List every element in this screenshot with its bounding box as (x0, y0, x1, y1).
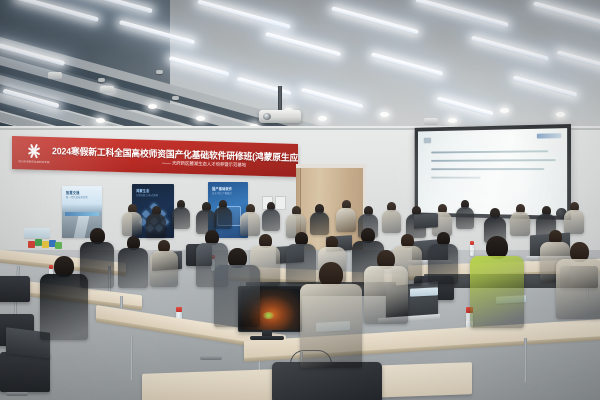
attendee-torso (262, 209, 280, 231)
poster-title: 国产基础软件 (212, 186, 232, 191)
attendee-torso (172, 207, 190, 229)
ceiling-downlight (318, 116, 327, 121)
bottle-cap (176, 307, 182, 312)
office-chair[interactable] (0, 276, 30, 302)
slide-text-line (431, 168, 544, 170)
attendee-torso (564, 210, 584, 234)
sprinkler-head (156, 70, 163, 74)
slide-text-line (431, 150, 548, 154)
ceiling-speaker (48, 72, 62, 79)
ceiling-downlight (380, 112, 389, 117)
laptop-lid[interactable] (414, 213, 438, 229)
poster-title: 鸿蒙生态 (136, 188, 150, 193)
slide-corner-logo (537, 133, 562, 138)
poster-body: 万物互联 分布式架构 (136, 194, 158, 197)
ceiling-downlight (556, 112, 565, 117)
bottle-cap (49, 265, 53, 269)
attendee-torso (40, 274, 88, 340)
light-switch-panel-right[interactable] (275, 196, 286, 210)
attendee-torso (364, 266, 408, 324)
attendee-torso (556, 259, 600, 319)
ceiling-projector (259, 110, 301, 123)
attendee-torso (510, 212, 530, 236)
chair-base (200, 356, 222, 360)
attendee-torso (214, 207, 232, 229)
projection-screen-surface (418, 128, 567, 216)
logo-x-glyph (26, 143, 43, 158)
attendee-torso (214, 265, 260, 327)
attendee-torso (310, 212, 329, 235)
attendee-torso (300, 284, 362, 368)
robot-kit-blocks (28, 238, 62, 250)
ceiling-speaker (424, 118, 438, 125)
chair-base (6, 392, 28, 396)
attendee-torso (150, 251, 178, 287)
handout-papers (24, 228, 50, 238)
classroom-photo: 四川天府新区信息职业学院 2024寒假新工科全国高校师资国产化基础软件研修班(鸿… (0, 0, 600, 400)
attendee-torso (286, 244, 316, 284)
office-chair[interactable] (0, 352, 50, 392)
poster-body: 自主可控 产教融合 (212, 192, 232, 195)
monitor-highlight (263, 312, 274, 319)
attendee-torso (146, 214, 166, 238)
projector-lens (263, 113, 271, 120)
handout-papers[interactable] (410, 287, 438, 296)
slide-text-line (431, 159, 555, 162)
x-mark-logo: 四川天府新区信息职业学院 (21, 141, 47, 166)
attendee-torso (382, 210, 401, 233)
poster-body: 新一代信息技术应用 (66, 196, 88, 199)
attendee-torso (456, 207, 474, 229)
attendee-torso (122, 212, 142, 236)
sprinkler-head (98, 78, 105, 82)
attendee-torso (470, 256, 524, 328)
attendee-torso (240, 212, 260, 236)
attendee-torso (118, 248, 148, 288)
logo-subtext: 四川天府新区信息职业学院 (18, 159, 49, 164)
ceiling-downlight (500, 108, 509, 113)
water-bottle[interactable] (470, 244, 474, 256)
ceiling-downlight (196, 116, 205, 121)
bottle-cap (470, 241, 474, 245)
attendee-torso (428, 244, 458, 284)
ceiling-downlight (448, 118, 457, 123)
desk-leg (130, 336, 133, 380)
desk-leg (524, 338, 527, 382)
ceiling-downlight (148, 104, 157, 109)
slide-section-marker (424, 138, 431, 144)
attendee-torso (336, 208, 356, 232)
sprinkler-head (172, 96, 179, 100)
monitor-stand-base (250, 336, 284, 340)
ceiling-speaker (100, 86, 114, 93)
ceiling-downlight (96, 118, 105, 123)
backpack[interactable] (272, 362, 382, 400)
poster-title: 智慧交通 (66, 190, 80, 195)
slide-text-line (431, 177, 481, 179)
projector-mount-pole (278, 86, 282, 112)
